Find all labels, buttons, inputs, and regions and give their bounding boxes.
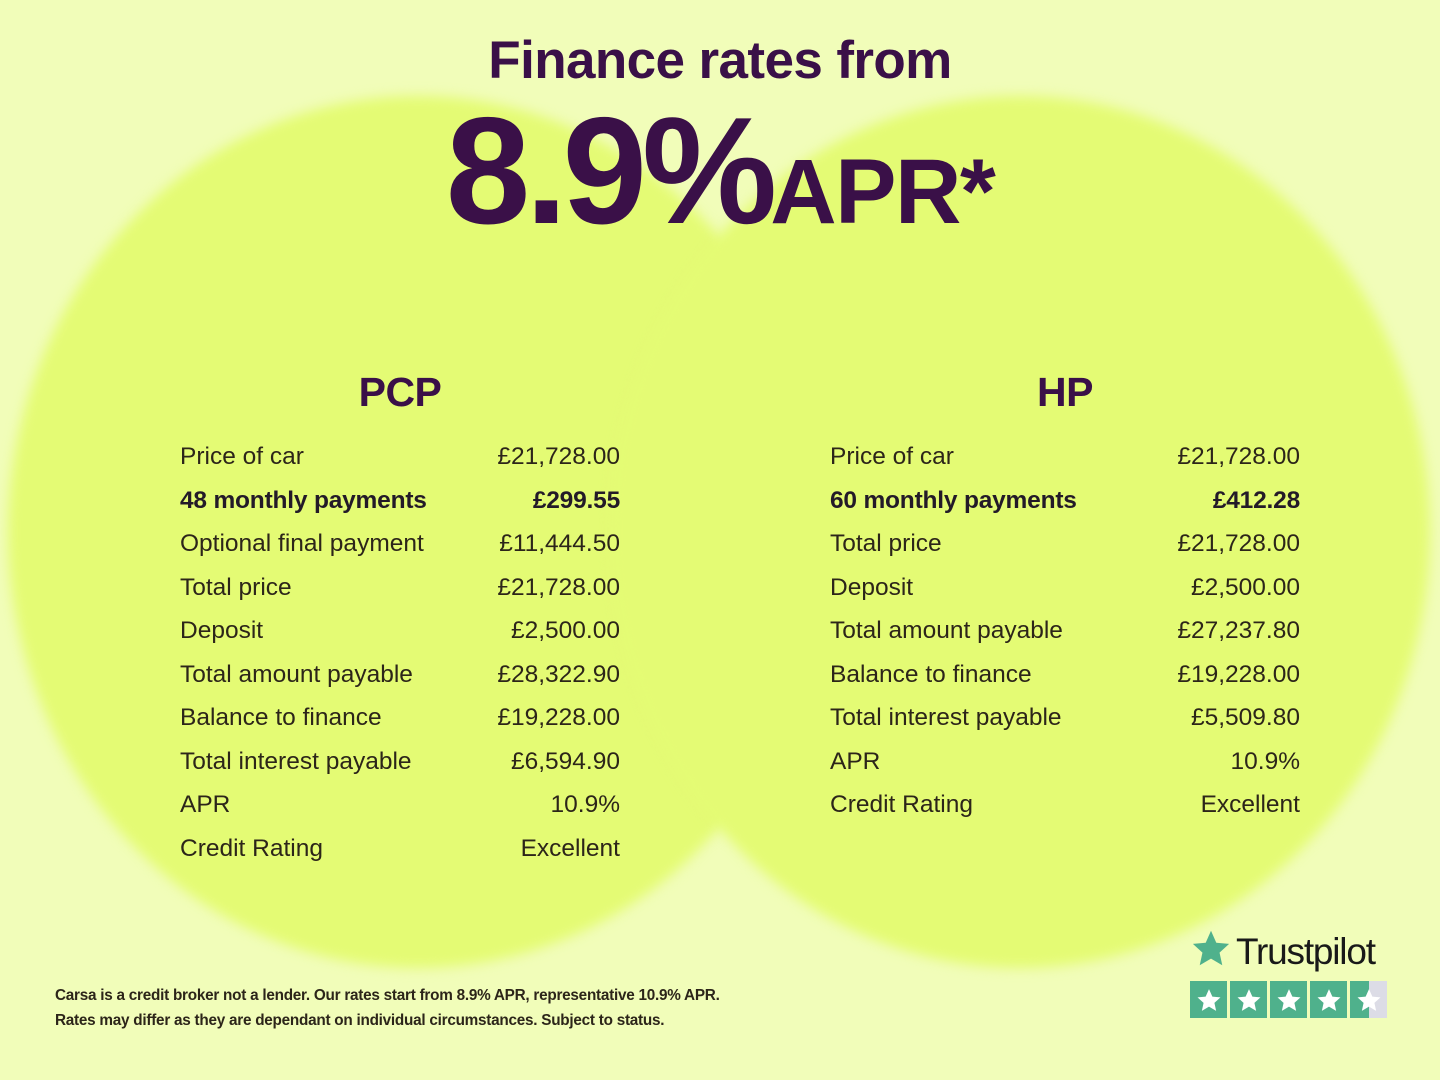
headline-eyebrow: Finance rates from <box>0 34 1440 87</box>
plan-row-value: £21,728.00 <box>1177 445 1300 470</box>
plan-row: Total interest payable£6,594.90 <box>180 750 620 794</box>
disclaimer-text: Carsa is a credit broker not a lender. O… <box>55 984 815 1034</box>
plan-row: Credit RatingExcellent <box>180 837 620 881</box>
plan-row: Total amount payable£27,237.80 <box>830 619 1300 663</box>
plan-row-value: £299.55 <box>533 489 620 514</box>
plan-row: Deposit£2,500.00 <box>830 576 1300 620</box>
plan-column-hp: HP Price of car£21,728.0060 monthly paym… <box>720 372 1440 880</box>
plan-row-value: £28,322.90 <box>497 663 620 688</box>
plan-row-value: 10.9% <box>1231 750 1300 775</box>
plan-row: Deposit£2,500.00 <box>180 619 620 663</box>
plan-row-label: Credit Rating <box>830 793 973 818</box>
plan-row: APR10.9% <box>180 793 620 837</box>
trustpilot-rating: Trustpilot <box>1190 928 1395 1018</box>
disclaimer-line-1: Carsa is a credit broker not a lender. O… <box>55 984 815 1009</box>
plan-row-value: £2,500.00 <box>511 619 620 644</box>
plan-row: Total price£21,728.00 <box>830 532 1300 576</box>
plan-row: Credit RatingExcellent <box>830 793 1300 837</box>
plan-row-label: Credit Rating <box>180 837 323 862</box>
plan-row-value: Excellent <box>521 837 620 862</box>
headline-rate-value: 8.9% <box>446 86 772 256</box>
plan-row-label: Total interest payable <box>830 706 1062 731</box>
plan-row: Total amount payable£28,322.90 <box>180 663 620 707</box>
plan-row: Optional final payment£11,444.50 <box>180 532 620 576</box>
trustpilot-star-full <box>1270 981 1307 1018</box>
plan-row-value: £19,228.00 <box>1177 663 1300 688</box>
plan-row-label: 48 monthly payments <box>180 489 427 514</box>
plan-title-hp: HP <box>830 372 1300 413</box>
plan-row: 48 monthly payments£299.55 <box>180 489 620 533</box>
trustpilot-wordmark-text: Trustpilot <box>1236 933 1375 970</box>
trustpilot-star-full <box>1190 981 1227 1018</box>
plan-row-label: Total amount payable <box>180 663 413 688</box>
plan-row-value: £21,728.00 <box>1177 532 1300 557</box>
plan-rows-pcp: Price of car£21,728.0048 monthly payment… <box>180 445 620 880</box>
plan-row-label: Optional final payment <box>180 532 424 557</box>
trustpilot-star-row <box>1190 981 1395 1018</box>
plan-row-label: Price of car <box>180 445 304 470</box>
plan-row: Total price£21,728.00 <box>180 576 620 620</box>
plan-row-value: £2,500.00 <box>1191 576 1300 601</box>
plan-row-value: Excellent <box>1201 793 1300 818</box>
plan-row-label: 60 monthly payments <box>830 489 1077 514</box>
plan-row-value: £27,237.80 <box>1177 619 1300 644</box>
plan-row-label: Price of car <box>830 445 954 470</box>
plan-row-value: 10.9% <box>551 793 620 818</box>
trustpilot-star-half <box>1350 981 1387 1018</box>
plan-row: APR10.9% <box>830 750 1300 794</box>
plan-row-value: £21,728.00 <box>497 445 620 470</box>
plan-row-label: Total amount payable <box>830 619 1063 644</box>
plan-row-label: Total price <box>830 532 942 557</box>
plan-row-label: APR <box>830 750 880 775</box>
plan-rows-hp: Price of car£21,728.0060 monthly payment… <box>830 445 1300 837</box>
plan-comparison: PCP Price of car£21,728.0048 monthly pay… <box>0 372 1440 880</box>
plan-title-pcp: PCP <box>180 372 620 413</box>
plan-row: Balance to finance£19,228.00 <box>830 663 1300 707</box>
plan-row: Total interest payable£5,509.80 <box>830 706 1300 750</box>
plan-row-value: £19,228.00 <box>497 706 620 731</box>
plan-row: Balance to finance£19,228.00 <box>180 706 620 750</box>
plan-row: 60 monthly payments£412.28 <box>830 489 1300 533</box>
plan-row-label: Balance to finance <box>180 706 382 731</box>
plan-row-label: Total price <box>180 576 292 601</box>
headline-main: 8.9%APR* <box>0 97 1440 246</box>
plan-row-value: £21,728.00 <box>497 576 620 601</box>
plan-row-label: APR <box>180 793 230 818</box>
star-icon <box>1190 928 1232 974</box>
plan-column-pcp: PCP Price of car£21,728.0048 monthly pay… <box>0 372 720 880</box>
headline-apr-label: APR* <box>770 141 994 243</box>
plan-row-value: £6,594.90 <box>511 750 620 775</box>
finance-rates-poster: Finance rates from 8.9%APR* PCP Price of… <box>0 0 1440 1080</box>
plan-row-value: £5,509.80 <box>1191 706 1300 731</box>
plan-row: Price of car£21,728.00 <box>830 445 1300 489</box>
disclaimer-line-2: Rates may differ as they are dependant o… <box>55 1009 815 1034</box>
plan-row: Price of car£21,728.00 <box>180 445 620 489</box>
trustpilot-logo: Trustpilot <box>1190 928 1395 974</box>
trustpilot-star-full <box>1310 981 1347 1018</box>
plan-row-value: £412.28 <box>1213 489 1300 514</box>
plan-row-label: Total interest payable <box>180 750 412 775</box>
plan-row-label: Balance to finance <box>830 663 1032 688</box>
plan-row-label: Deposit <box>830 576 913 601</box>
plan-row-value: £11,444.50 <box>499 532 620 557</box>
trustpilot-star-full <box>1230 981 1267 1018</box>
plan-row-label: Deposit <box>180 619 263 644</box>
headline: Finance rates from 8.9%APR* <box>0 34 1440 246</box>
